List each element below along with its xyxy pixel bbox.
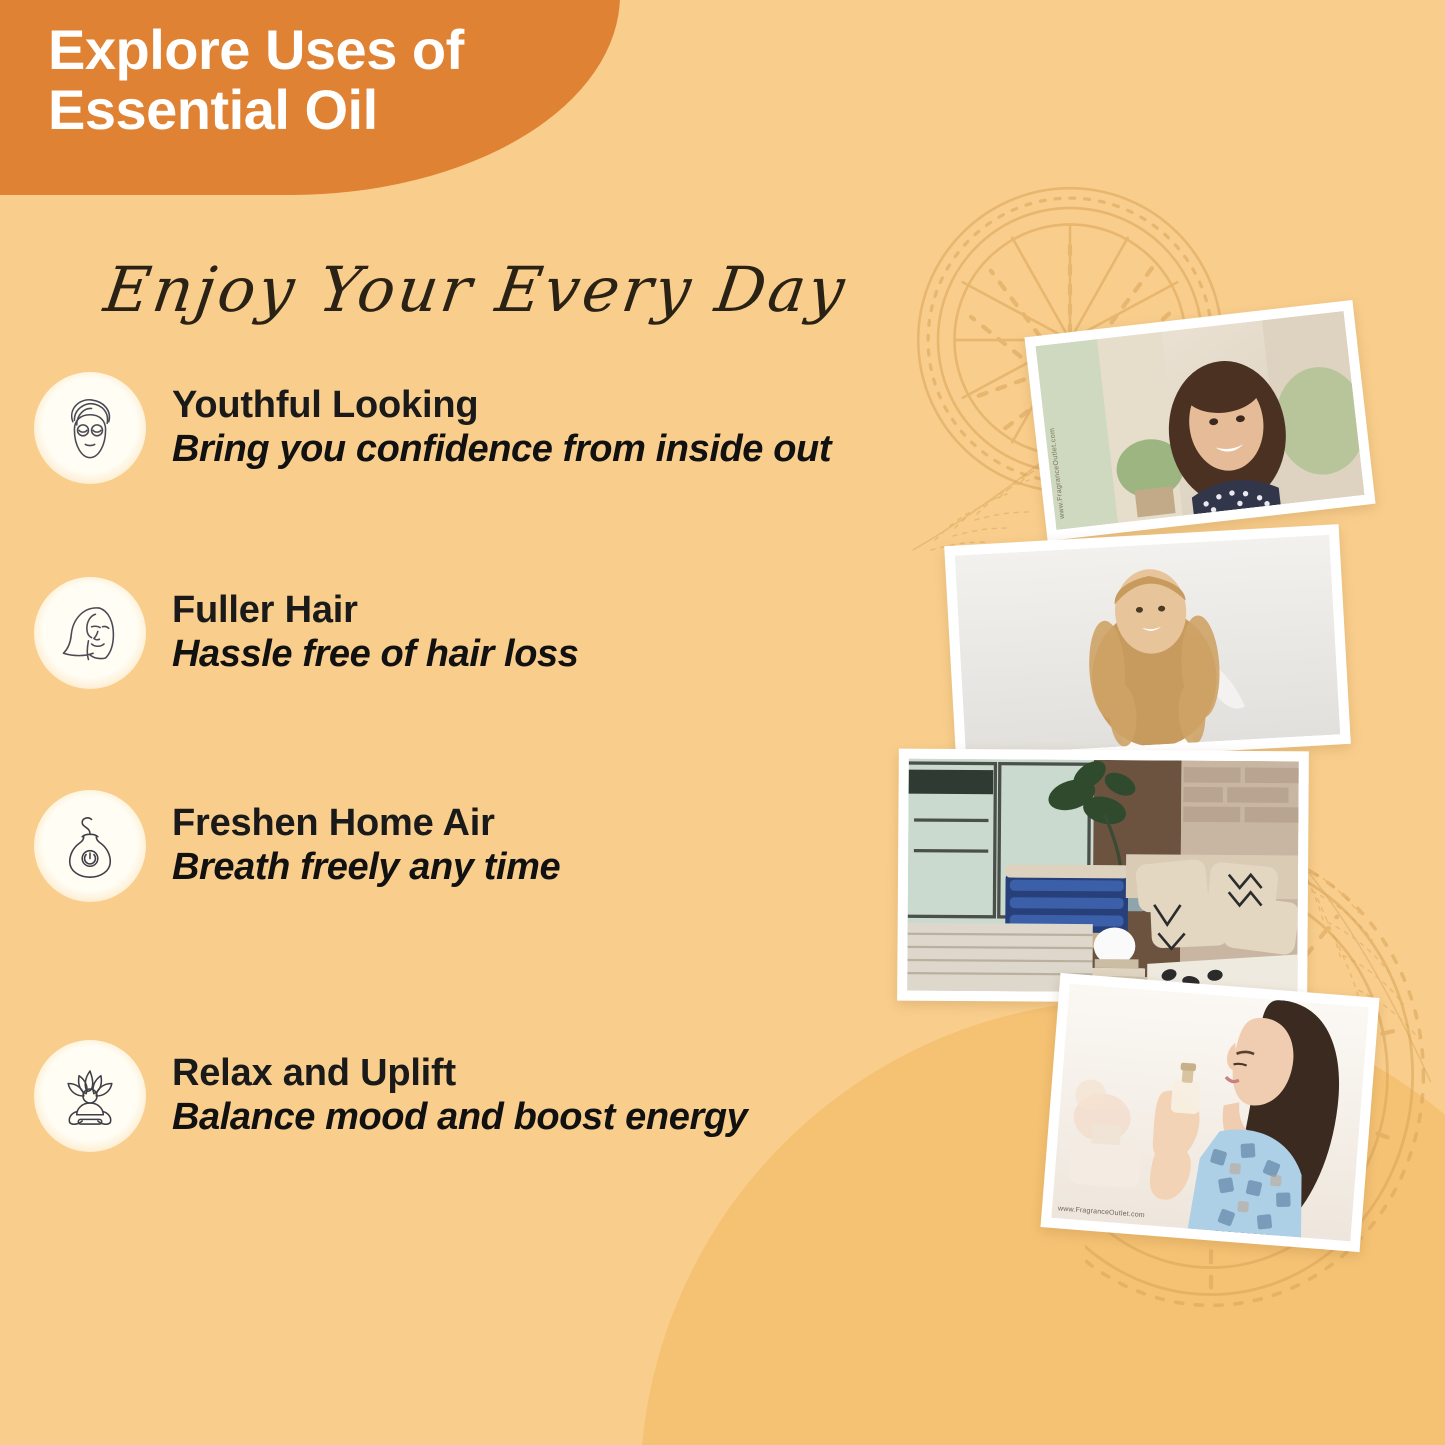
feature-title: Relax and Uplift — [172, 1054, 747, 1094]
feature-row-fuller-hair: Fuller Hair Hassle free of hair loss — [34, 577, 578, 689]
woman-applying-perfume-photo: www.FragranceOutlet.com — [1040, 973, 1379, 1252]
feature-row-relax-and-uplift: Relax and Uplift Balance mood and boost … — [34, 1040, 747, 1152]
lotus-meditation-icon — [34, 1040, 146, 1152]
feature-text-block: Fuller Hair Hassle free of hair loss — [172, 591, 578, 675]
feature-title: Youthful Looking — [172, 386, 831, 426]
facial-mask-icon — [34, 372, 146, 484]
feature-text-block: Freshen Home Air Breath freely any time — [172, 804, 560, 888]
feature-subtitle: Hassle free of hair loss — [172, 635, 578, 675]
feature-subtitle: Balance mood and boost energy — [172, 1098, 747, 1138]
long-wavy-hair-woman-photo — [944, 524, 1351, 766]
infographic-canvas: Explore Uses of Essential Oil Enjoy Your… — [0, 0, 1445, 1445]
feature-title: Fuller Hair — [172, 591, 578, 631]
aroma-diffuser-icon — [34, 790, 146, 902]
long-hair-profile-icon — [34, 577, 146, 689]
boho-living-room-photo — [897, 749, 1309, 1004]
feature-title: Freshen Home Air — [172, 804, 560, 844]
feature-text-block: Youthful Looking Bring you confidence fr… — [172, 386, 831, 470]
feature-row-youthful-looking: Youthful Looking Bring you confidence fr… — [34, 372, 831, 484]
feature-row-freshen-home-air: Freshen Home Air Breath freely any time — [34, 790, 560, 902]
feature-subtitle: Breath freely any time — [172, 848, 560, 888]
feature-subtitle: Bring you confidence from inside out — [172, 430, 831, 470]
page-title: Explore Uses of Essential Oil — [48, 20, 608, 141]
feature-text-block: Relax and Uplift Balance mood and boost … — [172, 1054, 747, 1138]
smiling-woman-photo: www.FragranceOutlet.com — [1024, 300, 1375, 541]
tagline: Enjoy Your Every Day — [100, 253, 852, 326]
